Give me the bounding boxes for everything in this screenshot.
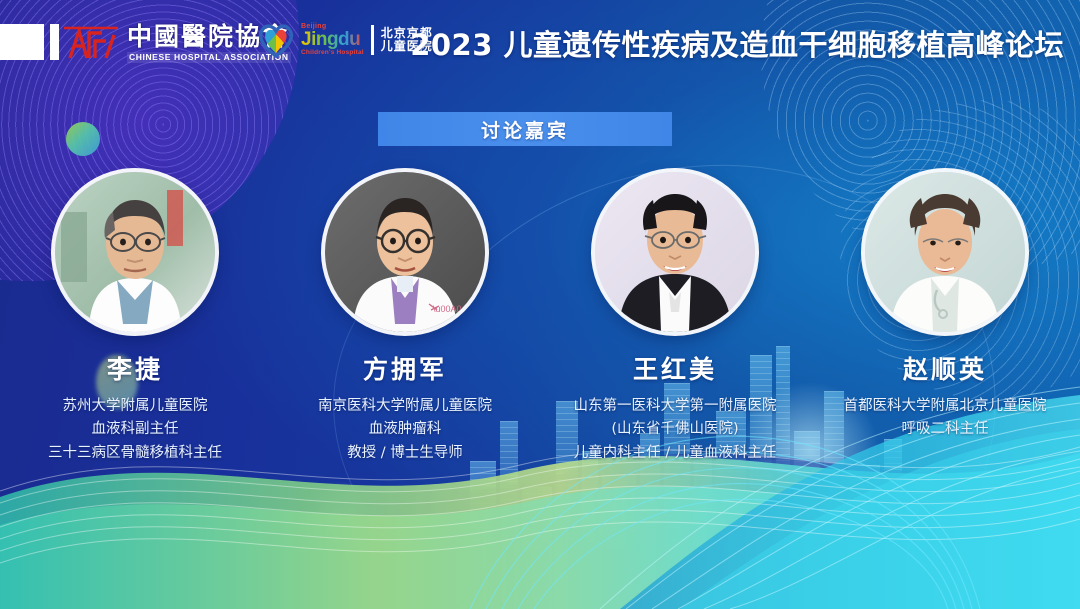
avatar: \u00A0 — [325, 172, 485, 332]
speaker-affiliation-line: 呼吸二科主任 — [844, 418, 1047, 441]
jingdu-logo-english: Children's Hospital — [301, 50, 364, 57]
portrait-photo-icon — [595, 172, 755, 332]
logo-divider — [371, 25, 374, 55]
avatar — [595, 172, 755, 332]
speaker-affiliation-line: 三十三病区骨髓移植科主任 — [48, 442, 222, 465]
page-title: 2023 儿童遗传性疾病及造血干细胞移植高峰论坛 — [410, 22, 1064, 64]
speaker-affiliation-line: 首都医科大学附属北京儿童医院 — [844, 395, 1047, 418]
speaker-name: 李捷 — [107, 350, 163, 386]
speaker-card[interactable]: 赵顺英 首都医科大学附属北京儿童医院 呼吸二科主任 — [814, 172, 1076, 442]
section-banner-label: 讨论嘉宾 — [481, 116, 569, 143]
white-block-decoration — [0, 24, 44, 60]
speaker-affiliation-line: 血液科副主任 — [48, 418, 222, 441]
speaker-affiliation-line: (山东省千佛山医院) — [574, 418, 777, 441]
speaker-affiliation-line: 教授 / 博士生导师 — [318, 442, 492, 465]
speaker-card[interactable]: 王红美 山东第一医科大学第一附属医院 (山东省千佛山医院) 儿童内科主任 / 儿… — [544, 172, 806, 465]
speaker-card[interactable]: \u00A0 方拥军 南京医科大学附属儿童医院 血液肿瘤科 教授 / 博士生导师 — [274, 172, 536, 465]
portrait-photo-icon — [55, 172, 215, 332]
heart-icon — [256, 22, 296, 58]
speaker-affiliation-line: 苏州大学附属儿童医院 — [48, 395, 222, 418]
white-bar-decoration — [50, 24, 59, 60]
speaker-affiliation-line: 血液肿瘤科 — [318, 418, 492, 441]
cha-monogram-icon — [62, 25, 120, 61]
speaker-name: 王红美 — [633, 350, 717, 386]
avatar — [865, 172, 1025, 332]
speaker-affiliation: 南京医科大学附属儿童医院 血液肿瘤科 教授 / 博士生导师 — [318, 395, 492, 465]
portrait-photo-icon — [865, 172, 1025, 332]
speaker-name: 赵顺英 — [903, 350, 987, 386]
gradient-sphere-decoration — [66, 122, 100, 156]
speaker-affiliation: 苏州大学附属儿童医院 血液科副主任 三十三病区骨髓移植科主任 — [48, 395, 222, 465]
header-bar: 中國醫院協會 CHINESE HOSPITAL ASSOCIATION Beij… — [0, 0, 1080, 76]
speaker-affiliation: 首都医科大学附属北京儿童医院 呼吸二科主任 — [844, 395, 1047, 442]
speaker-list: 李捷 苏州大学附属儿童医院 血液科副主任 三十三病区骨髓移植科主任 — [0, 172, 1080, 465]
speaker-card[interactable]: 李捷 苏州大学附属儿童医院 血液科副主任 三十三病区骨髓移植科主任 — [4, 172, 266, 465]
jingdu-hospital-logo: Beijing Jingdu Children's Hospital 北京京都 … — [256, 22, 433, 58]
poster-canvas: 中國醫院協會 CHINESE HOSPITAL ASSOCIATION Beij… — [0, 0, 1080, 609]
jingdu-logo-name: Jingdu — [301, 30, 364, 49]
portrait-photo-icon: \u00A0 — [325, 172, 485, 332]
section-banner: 讨论嘉宾 — [378, 112, 672, 146]
speaker-affiliation-line: 儿童内科主任 / 儿童血液科主任 — [574, 442, 777, 465]
speaker-affiliation-line: 山东第一医科大学第一附属医院 — [574, 395, 777, 418]
avatar — [55, 172, 215, 332]
speaker-affiliation: 山东第一医科大学第一附属医院 (山东省千佛山医院) 儿童内科主任 / 儿童血液科… — [574, 395, 777, 465]
speaker-affiliation-line: 南京医科大学附属儿童医院 — [318, 395, 492, 418]
speaker-name: 方拥军 — [363, 350, 447, 386]
svg-text:\u00A0: \u00A0 — [433, 304, 462, 314]
